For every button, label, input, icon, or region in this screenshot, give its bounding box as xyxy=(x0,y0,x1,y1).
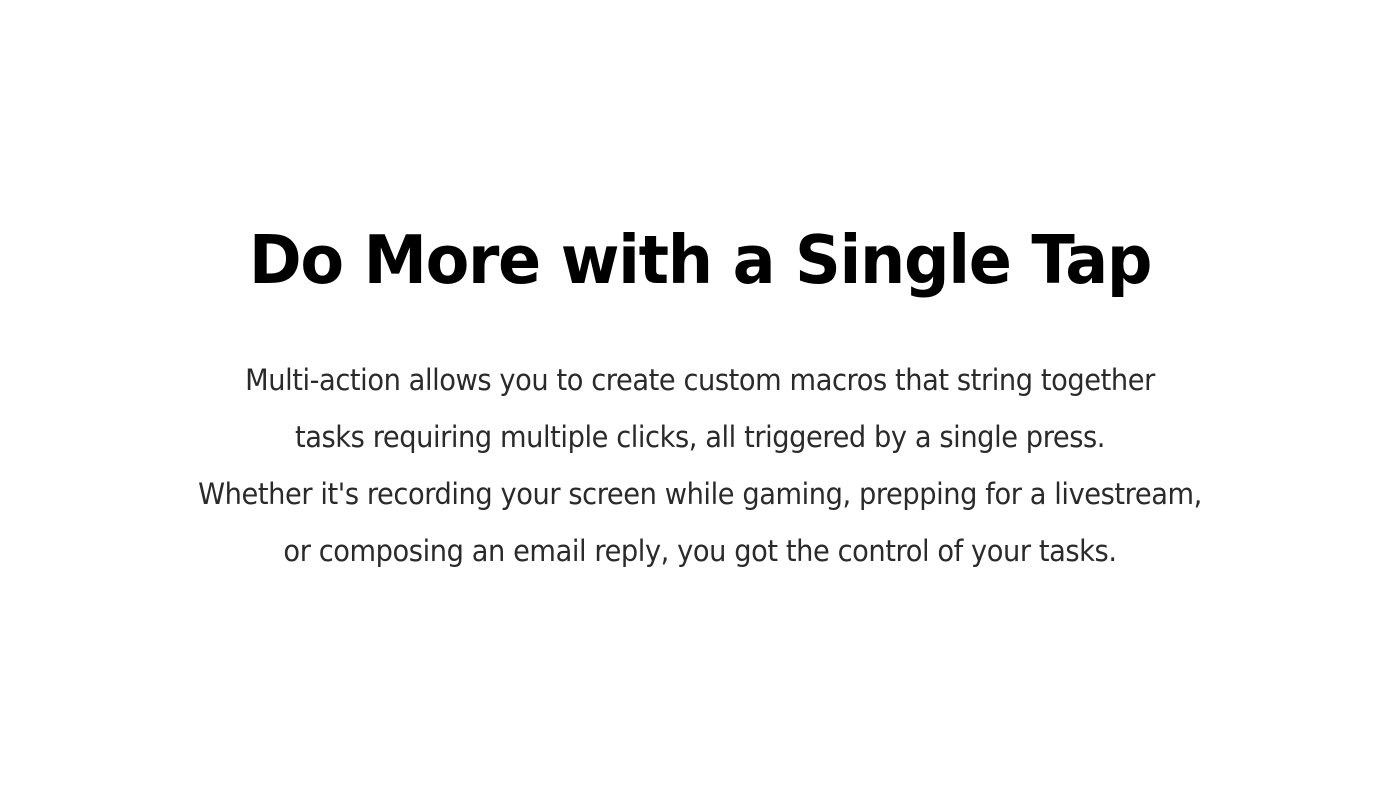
body-line-1: Multi-action allows you to create custom… xyxy=(42,352,1358,409)
page-title: Do More with a Single Tap xyxy=(35,218,1365,302)
body-paragraph: Multi-action allows you to create custom… xyxy=(0,352,1400,580)
body-line-4: or composing an email reply, you got the… xyxy=(42,523,1358,580)
body-line-2: tasks requiring multiple clicks, all tri… xyxy=(42,409,1358,466)
slide-canvas: Do More with a Single Tap Multi-action a… xyxy=(0,0,1400,800)
body-line-3: Whether it's recording your screen while… xyxy=(42,466,1358,523)
